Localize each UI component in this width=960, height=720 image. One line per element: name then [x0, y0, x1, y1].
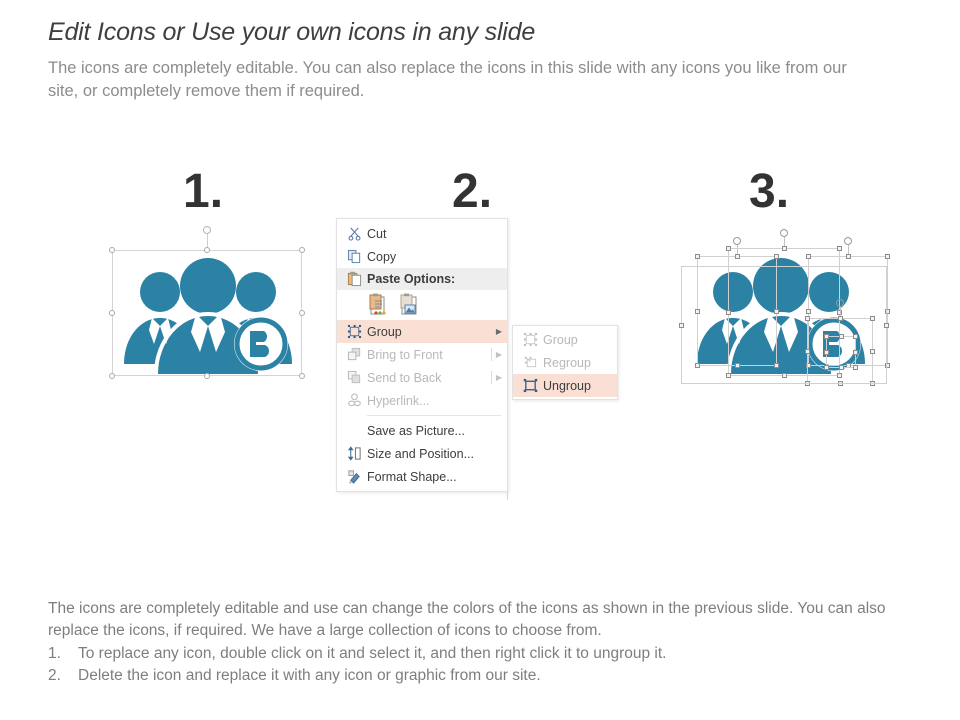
page-subtitle: The icons are completely editable. You c…	[48, 57, 878, 103]
chevron-right-icon: ▶	[495, 373, 507, 382]
paste-keep-source-formatting-button[interactable]	[367, 293, 389, 317]
resize-handle-top-left[interactable]	[109, 247, 115, 253]
submenu-item-ungroup[interactable]: Ungroup	[513, 374, 617, 397]
menu-item-label: Copy	[367, 250, 507, 264]
menu-item-bring-to-front[interactable]: Bring to Front ▶	[337, 343, 507, 366]
resize-handle-bottom-left[interactable]	[109, 373, 115, 379]
resize-handle-bottom-center[interactable]	[204, 373, 210, 379]
menu-item-label: Save as Picture...	[367, 424, 507, 438]
resize-handle-middle-right[interactable]	[884, 323, 889, 328]
step-number-2: 2.	[452, 168, 492, 216]
menu-item-format-shape[interactable]: Format Shape...	[337, 465, 507, 488]
copy-icon	[341, 249, 367, 264]
menu-item-copy[interactable]: Copy	[337, 245, 507, 268]
list-text: Delete the icon and replace it with any …	[78, 665, 541, 687]
menu-item-hyperlink[interactable]: Hyperlink...	[337, 389, 507, 412]
ungroup-icon	[517, 378, 543, 393]
submenu-item-regroup[interactable]: Regroup	[513, 351, 617, 374]
chevron-right-icon: ▶	[495, 350, 507, 359]
resize-handle-top-center[interactable]	[846, 254, 851, 259]
selection-frame-grouped[interactable]	[112, 250, 302, 376]
footer-list-item-1: 1. To replace any icon, double click on …	[48, 643, 933, 665]
submenu-item-label: Ungroup	[543, 379, 617, 393]
resize-handle-bottom-right[interactable]	[299, 373, 305, 379]
regroup-icon	[517, 355, 543, 370]
resize-handle-top-left[interactable]	[726, 246, 731, 251]
menu-item-group[interactable]: Group ▶	[337, 320, 507, 343]
menu-item-send-to-back[interactable]: Send to Back ▶	[337, 366, 507, 389]
format-shape-icon	[341, 469, 367, 484]
menu-separator	[367, 415, 501, 416]
send-to-back-icon	[341, 370, 367, 385]
paste-picture-button[interactable]	[398, 293, 420, 317]
paste-options-row	[337, 290, 507, 320]
list-text: To replace any icon, double click on it …	[78, 643, 666, 665]
step-number-3: 3.	[749, 168, 789, 216]
sub-selection-outer-bounds[interactable]	[681, 266, 887, 384]
size-and-position-icon	[341, 446, 367, 461]
resize-handle-top-left[interactable]	[695, 254, 700, 259]
menu-arrow-separator	[491, 371, 492, 384]
footer-list-item-2: 2. Delete the icon and replace it with a…	[48, 665, 933, 687]
menu-item-label: Group	[367, 325, 495, 339]
footer-paragraph: The icons are completely editable and us…	[48, 598, 933, 642]
chevron-right-icon: ▶	[495, 327, 507, 336]
resize-handle-top-center[interactable]	[204, 247, 210, 253]
group-submenu[interactable]: Group Regroup	[512, 325, 618, 400]
resize-handle-top-right[interactable]	[299, 247, 305, 253]
resize-handle-top-right[interactable]	[885, 254, 890, 259]
menu-item-size-and-position[interactable]: Size and Position...	[337, 442, 507, 465]
paste-icon	[341, 271, 367, 287]
menu-item-cut[interactable]: Cut	[337, 222, 507, 245]
resize-handle-top-left[interactable]	[806, 254, 811, 259]
scissors-icon	[341, 226, 367, 241]
menu-item-label: Cut	[367, 227, 507, 241]
rotate-handle[interactable]	[733, 237, 741, 245]
group-icon	[517, 332, 543, 347]
submenu-item-group[interactable]: Group	[513, 328, 617, 351]
list-number: 2.	[48, 665, 78, 687]
menu-arrow-separator	[491, 348, 492, 361]
resize-handle-middle-left[interactable]	[109, 310, 115, 316]
hyperlink-icon	[341, 393, 367, 408]
resize-handle-middle-right[interactable]	[299, 310, 305, 316]
menu-item-label: Format Shape...	[367, 470, 507, 484]
slide-canvas: Edit Icons or Use your own icons in any …	[0, 0, 960, 720]
group-icon	[341, 324, 367, 339]
rotate-handle[interactable]	[203, 226, 211, 234]
bring-to-front-icon	[341, 347, 367, 362]
footer-text-block: The icons are completely editable and us…	[48, 598, 933, 687]
menu-item-label: Bring to Front	[367, 348, 491, 362]
rotate-handle[interactable]	[780, 229, 788, 237]
step-number-1: 1.	[183, 168, 223, 216]
resize-handle-top-right[interactable]	[837, 246, 842, 251]
rotate-handle[interactable]	[844, 237, 852, 245]
menu-item-save-as-picture[interactable]: Save as Picture...	[337, 419, 507, 442]
menu-item-label: Size and Position...	[367, 447, 507, 461]
list-number: 1.	[48, 643, 78, 665]
menu-item-label: Hyperlink...	[367, 394, 507, 408]
menu-item-paste-options-header: Paste Options:	[337, 268, 507, 290]
page-title: Edit Icons or Use your own icons in any …	[48, 18, 918, 47]
menu-item-label: Send to Back	[367, 371, 491, 385]
context-menu[interactable]: Cut Copy Paste Options:	[336, 218, 508, 492]
submenu-item-label: Regroup	[543, 356, 617, 370]
submenu-item-label: Group	[543, 333, 617, 347]
menu-item-label: Paste Options:	[367, 272, 507, 286]
resize-handle-middle-left[interactable]	[679, 323, 684, 328]
resize-handle-top-center[interactable]	[782, 246, 787, 251]
